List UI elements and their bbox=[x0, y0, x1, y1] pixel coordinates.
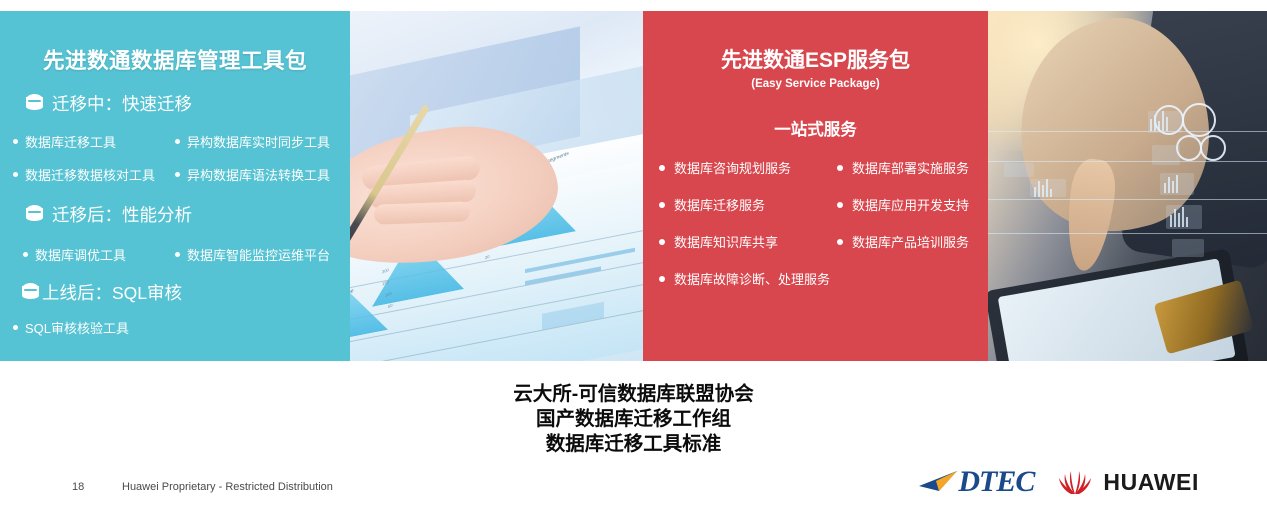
dtec-mark-icon bbox=[917, 467, 963, 497]
list-item-label: 数据迁移数据核对工具 bbox=[25, 165, 155, 184]
list-item-label: 数据库知识库共享 bbox=[674, 232, 778, 251]
list-item: 异构数据库语法转换工具 bbox=[175, 165, 330, 184]
list-item: 数据库产品培训服务 bbox=[837, 232, 969, 251]
dtec-logo: DTEC bbox=[917, 467, 1034, 497]
dtec-logo-text: DTEC bbox=[958, 467, 1034, 497]
list-item-label: 数据库故障诊断、处理服务 bbox=[674, 269, 830, 288]
slide-caption: 云大所-可信数据库联盟协会 国产数据库迁移工作组 数据库迁移工具标准 bbox=[0, 382, 1267, 457]
cyan-bullets-migration: 数据库迁移工具 异构数据库实时同步工具 数据迁移数据核对工具 异构数据库语法转换… bbox=[0, 132, 350, 184]
database-icon bbox=[26, 205, 43, 224]
caption-line: 国产数据库迁移工作组 bbox=[0, 407, 1267, 432]
list-item-label: SQL审核核验工具 bbox=[25, 318, 129, 337]
list-item: 数据库故障诊断、处理服务 bbox=[659, 269, 830, 288]
list-item-label: 异构数据库语法转换工具 bbox=[187, 165, 330, 184]
cyan-section-label: 迁移中：快速迁移 bbox=[52, 91, 192, 116]
bullet-dot-icon bbox=[13, 325, 18, 330]
cyan-section-heading-migration: 迁移中：快速迁移 bbox=[26, 91, 350, 116]
right-photo-tablet bbox=[988, 11, 1267, 361]
caption-line: 数据库迁移工具标准 bbox=[0, 432, 1267, 457]
hud-panel bbox=[1152, 145, 1180, 165]
bullet-dot-icon bbox=[659, 239, 665, 245]
list-item-label: 数据库迁移工具 bbox=[25, 132, 116, 151]
database-icon bbox=[22, 283, 39, 302]
list-item-label: 数据库智能监控运维平台 bbox=[187, 245, 330, 264]
list-item: SQL审核核验工具 bbox=[13, 318, 129, 337]
bullet-dot-icon bbox=[23, 252, 28, 257]
list-item: 数据迁移数据核对工具 bbox=[13, 165, 175, 184]
bullet-dot-icon bbox=[837, 165, 843, 171]
bullet-row: 数据迁移数据核对工具 异构数据库语法转换工具 bbox=[0, 165, 350, 184]
bullet-dot-icon bbox=[13, 139, 18, 144]
cyan-section-label: 上线后：SQL审核 bbox=[42, 280, 182, 305]
footer-logos: DTEC HUAWEI bbox=[917, 467, 1199, 497]
list-item-label: 数据库咨询规划服务 bbox=[674, 158, 791, 177]
list-item: 数据库部署实施服务 bbox=[837, 158, 969, 177]
cyan-bullets-performance: 数据库调优工具 数据库智能监控运维平台 bbox=[0, 245, 350, 264]
database-icon bbox=[26, 94, 43, 113]
bullet-dot-icon bbox=[175, 139, 180, 144]
bullet-row: 数据库迁移服务 数据库应用开发支持 bbox=[643, 195, 988, 214]
slide-canvas: 先进数通数据库管理工具包 迁移中：快速迁移 数据库迁移工具 异构数据库实时同步工… bbox=[0, 0, 1267, 510]
bullet-row: 数据库调优工具 数据库智能监控运维平台 bbox=[0, 245, 350, 264]
bullet-dot-icon bbox=[837, 202, 843, 208]
bullet-row: 数据库咨询规划服务 数据库部署实施服务 bbox=[643, 158, 988, 177]
red-panel-subtitle: (Easy Service Package) bbox=[643, 78, 988, 90]
list-item-label: 数据库应用开发支持 bbox=[852, 195, 969, 214]
huawei-logo: HUAWEI bbox=[1056, 467, 1199, 497]
caption-line: 云大所-可信数据库联盟协会 bbox=[0, 382, 1267, 407]
slide-footer: 18 Huawei Proprietary - Restricted Distr… bbox=[0, 478, 1267, 510]
huawei-logo-text: HUAWEI bbox=[1103, 471, 1199, 494]
cyan-toolkit-panel: 先进数通数据库管理工具包 迁移中：快速迁移 数据库迁移工具 异构数据库实时同步工… bbox=[0, 11, 350, 361]
bullet-dot-icon bbox=[175, 252, 180, 257]
bullet-dot-icon bbox=[659, 165, 665, 171]
cyan-section-label: 迁移后：性能分析 bbox=[52, 202, 192, 227]
list-item: 数据库知识库共享 bbox=[659, 232, 837, 251]
cyan-bullets-sql-review: SQL审核核验工具 bbox=[0, 318, 350, 337]
list-item: 数据库调优工具 bbox=[23, 245, 175, 264]
list-item: 数据库智能监控运维平台 bbox=[175, 245, 330, 264]
bullet-dot-icon bbox=[13, 172, 18, 177]
red-service-panel: 先进数通ESP服务包 (Easy Service Package) 一站式服务 … bbox=[643, 11, 988, 361]
bullet-dot-icon bbox=[659, 202, 665, 208]
list-item-label: 数据库产品培训服务 bbox=[852, 232, 969, 251]
list-item-label: 数据库迁移服务 bbox=[674, 195, 765, 214]
content-band: 先进数通数据库管理工具包 迁移中：快速迁移 数据库迁移工具 异构数据库实时同步工… bbox=[0, 11, 1267, 361]
red-panel-title: 先进数通ESP服务包 bbox=[643, 44, 988, 74]
bullet-row: SQL审核核验工具 bbox=[0, 318, 350, 337]
huawei-flower-icon bbox=[1056, 467, 1094, 497]
list-item: 数据库迁移服务 bbox=[659, 195, 837, 214]
bullet-dot-icon bbox=[659, 276, 665, 282]
hud-ring-icon bbox=[1200, 135, 1226, 161]
bullet-dot-icon bbox=[175, 172, 180, 177]
list-item: 异构数据库实时同步工具 bbox=[175, 132, 330, 151]
bullet-row: 数据库故障诊断、处理服务 bbox=[643, 269, 988, 288]
list-item: 数据库迁移工具 bbox=[13, 132, 175, 151]
bullet-row: 数据库知识库共享 数据库产品培训服务 bbox=[643, 232, 988, 251]
page-number: 18 bbox=[72, 481, 84, 493]
proprietary-notice: Huawei Proprietary - Restricted Distribu… bbox=[122, 481, 333, 493]
red-panel-section-heading: 一站式服务 bbox=[643, 116, 988, 140]
bullet-row: 数据库迁移工具 异构数据库实时同步工具 bbox=[0, 132, 350, 151]
list-item-label: 数据库部署实施服务 bbox=[852, 158, 969, 177]
list-item: 数据库应用开发支持 bbox=[837, 195, 969, 214]
list-item: 数据库咨询规划服务 bbox=[659, 158, 837, 177]
list-item-label: 异构数据库实时同步工具 bbox=[187, 132, 330, 151]
center-photo-charts: Regional segments Central Europe West Eu… bbox=[350, 11, 643, 361]
cyan-section-heading-sql-review: 上线后：SQL审核 bbox=[22, 280, 350, 305]
hud-panel bbox=[1172, 239, 1204, 257]
photo-finger bbox=[374, 201, 471, 224]
list-item-label: 数据库调优工具 bbox=[35, 245, 126, 264]
cyan-panel-title: 先进数通数据库管理工具包 bbox=[0, 44, 350, 75]
bullet-dot-icon bbox=[837, 239, 843, 245]
hud-panel bbox=[1004, 163, 1034, 177]
red-bullets: 数据库咨询规划服务 数据库部署实施服务 数据库迁移服务 数据库应用开发支持 bbox=[643, 158, 988, 288]
cyan-section-heading-performance: 迁移后：性能分析 bbox=[26, 202, 350, 227]
